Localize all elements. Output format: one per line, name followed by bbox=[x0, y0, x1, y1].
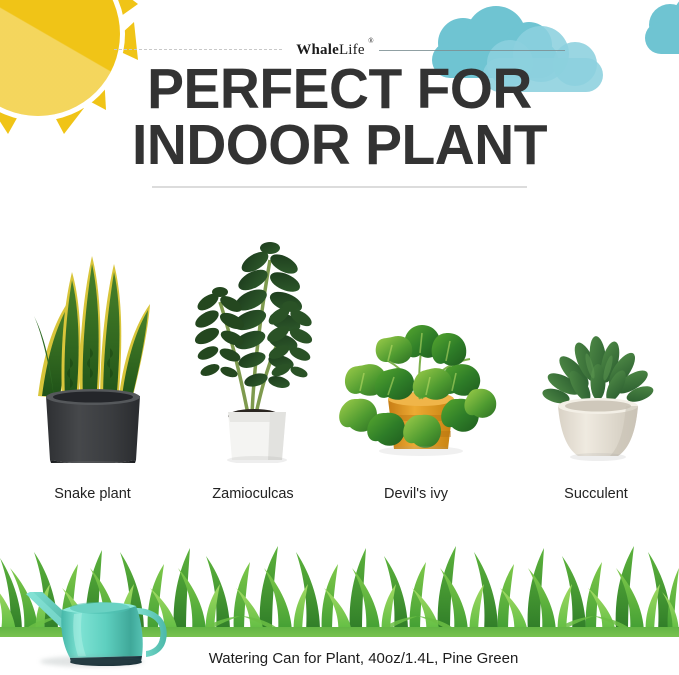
registered-trademark-icon: ® bbox=[368, 37, 374, 45]
snake-plant-icon bbox=[10, 228, 175, 463]
succulent-icon bbox=[522, 318, 670, 463]
divider-dotted-left bbox=[114, 49, 282, 51]
brand-name-light: Life bbox=[339, 42, 365, 58]
headline-line-1: PERFECT FOR bbox=[147, 57, 532, 121]
infographic-canvas: WhaleLife® PERFECT FOR INDOOR PLANT bbox=[0, 0, 679, 675]
zamioculcas-icon bbox=[178, 198, 328, 463]
plant-item-devils-ivy: Devil's ivy bbox=[330, 210, 502, 510]
plant-item-snake-plant: Snake plant bbox=[10, 210, 175, 510]
brand-logo-row: WhaleLife® bbox=[0, 38, 679, 62]
plant-item-succulent: Succulent bbox=[522, 210, 670, 510]
product-caption: Watering Can for Plant, 40oz/1.4L, Pine … bbox=[0, 650, 679, 667]
plant-gallery: Snake plant bbox=[0, 200, 679, 510]
snake-plant-illustration bbox=[10, 228, 175, 468]
brand-name-bold: Whale bbox=[296, 42, 339, 58]
succulent-illustration bbox=[522, 318, 670, 468]
zamioculcas-illustration bbox=[178, 198, 328, 468]
devils-ivy-illustration bbox=[330, 303, 502, 468]
plant-label-succulent: Succulent bbox=[522, 486, 670, 502]
brand-logo: WhaleLife® bbox=[296, 42, 364, 59]
product-caption-text: Watering Can for Plant, 40oz/1.4L, Pine … bbox=[161, 650, 519, 667]
page-title: PERFECT FOR INDOOR PLANT bbox=[10, 62, 669, 174]
plant-item-zamioculcas: Zamioculcas bbox=[178, 210, 328, 510]
plant-label-zamioculcas: Zamioculcas bbox=[178, 486, 328, 502]
plant-label-snake-plant: Snake plant bbox=[10, 486, 175, 502]
divider-solid-right bbox=[379, 50, 565, 51]
plant-label-devils-ivy: Devil's ivy bbox=[330, 486, 502, 502]
divider-under-title bbox=[152, 186, 527, 188]
headline-line-2: INDOOR PLANT bbox=[10, 118, 669, 174]
devils-ivy-icon bbox=[330, 303, 502, 463]
